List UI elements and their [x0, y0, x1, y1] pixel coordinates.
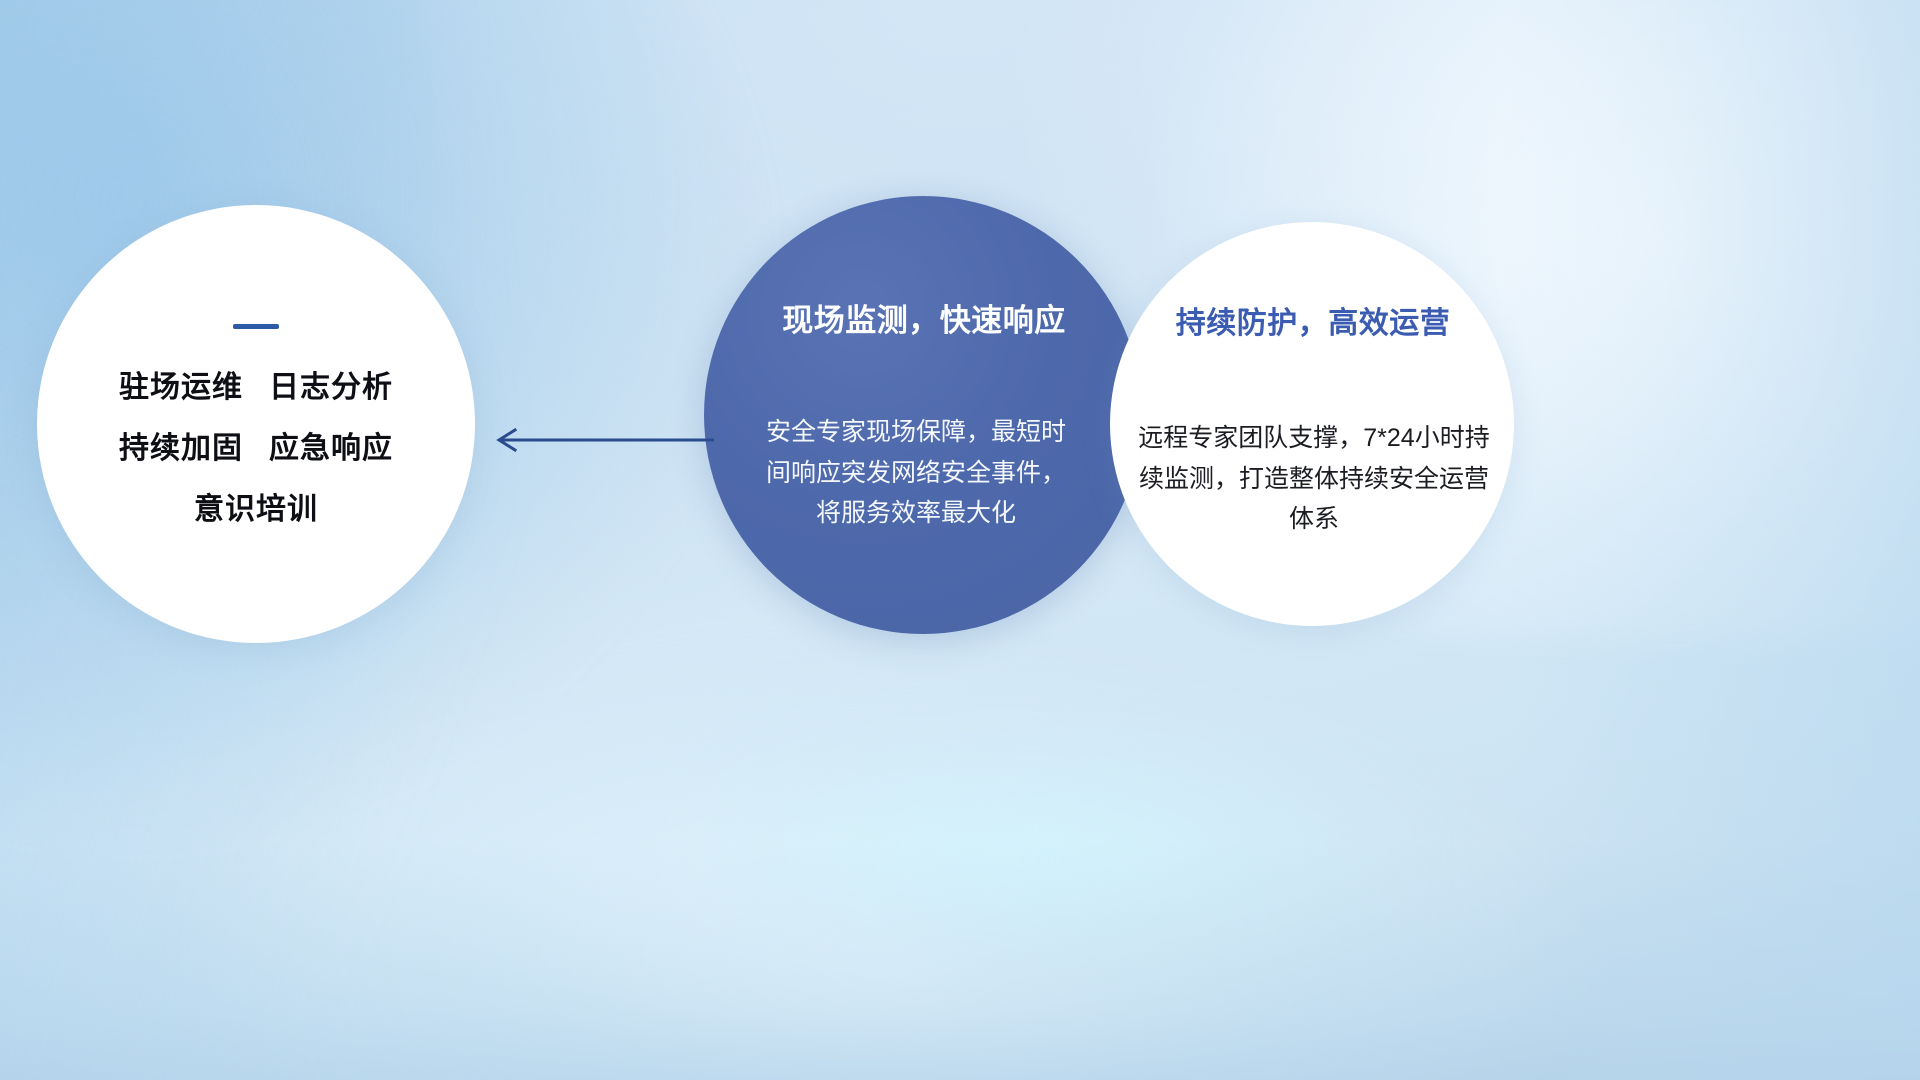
- capability-label: 日志分析: [269, 371, 393, 404]
- right-circle-body: 远程专家团队支撑，7*24小时持续监测，打造整体持续安全运营体系: [1132, 418, 1496, 540]
- capability-label: 驻场运维: [119, 371, 243, 404]
- middle-circle-title: 现场监测，快速响应: [756, 295, 1092, 340]
- left-capability-list: 驻场运维日志分析 持续加固应急响应 意识培训: [119, 373, 393, 525]
- flow-arrow-left-icon: [488, 424, 714, 456]
- right-circle-title: 持续防护，高效运营: [1140, 298, 1486, 342]
- middle-circle-body: 安全专家现场保障，最短时间响应突发网络安全事件，将服务效率最大化: [766, 412, 1066, 534]
- list-item: 意识培训: [119, 495, 393, 525]
- capability-label: 应急响应: [269, 432, 393, 465]
- divider-dash: [233, 324, 279, 329]
- background-right-vignette: [1500, 0, 1920, 1080]
- capability-label: 持续加固: [119, 432, 243, 465]
- list-item: 持续加固应急响应: [119, 434, 393, 464]
- list-item: 驻场运维日志分析: [119, 373, 393, 403]
- slide-canvas: 驻场运维日志分析 持续加固应急响应 意识培训 现场监测，快速响应 安全专家现场保…: [0, 0, 1920, 1080]
- capability-label: 意识培训: [194, 493, 318, 526]
- left-capability-circle: 驻场运维日志分析 持续加固应急响应 意识培训: [37, 205, 475, 643]
